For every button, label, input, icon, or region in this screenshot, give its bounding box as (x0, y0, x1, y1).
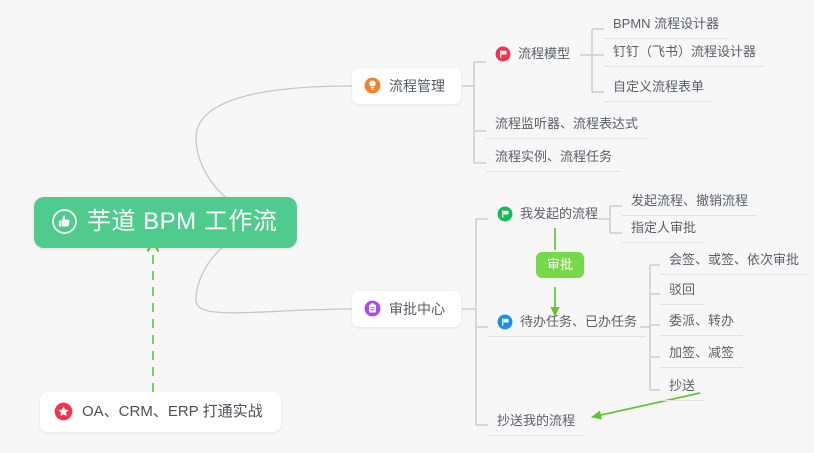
node-label-add-remove-signer: 加签、减签 (669, 345, 734, 361)
lightbulb-icon (364, 77, 381, 94)
node-label-my-initiated-process: 我发起的流程 (520, 206, 598, 222)
node-label-delegate-transfer: 委派、转办 (669, 313, 734, 329)
node-label-carbon-copy: 抄送 (669, 378, 695, 394)
flag-icon (497, 314, 513, 330)
node-label-process-listener-expression: 流程监听器、流程表达式 (495, 116, 638, 132)
node-cc-to-me-process[interactable]: 抄送我的流程 (488, 409, 584, 436)
node-label-custom-process-form: 自定义流程表单 (613, 79, 704, 95)
node-custom-process-form[interactable]: 自定义流程表单 (604, 75, 713, 102)
star-icon (54, 402, 73, 421)
node-countersign-orsign-sequential[interactable]: 会签、或签、依次审批 (660, 248, 808, 275)
bottom-card-label: OA、CRM、ERP 打通实战 (82, 404, 263, 419)
node-process-listener-expression[interactable]: 流程监听器、流程表达式 (486, 112, 647, 139)
node-delegate-transfer[interactable]: 委派、转办 (660, 309, 743, 336)
node-label-reject: 驳回 (669, 282, 695, 298)
flag-icon (497, 206, 513, 222)
node-assignee-approval[interactable]: 指定人审批 (622, 216, 705, 243)
flag-icon (495, 46, 511, 62)
mindmap-canvas: 芋道 BPM 工作流 流程管理 流程模型 BPMN 流程设计器 钉钉（飞书 (0, 0, 814, 453)
thumbs-up-icon (52, 209, 77, 234)
branch-node-approval-center[interactable]: 审批中心 (352, 291, 461, 327)
node-label-dingtalk-feishu-designer: 钉钉（飞书）流程设计器 (613, 44, 756, 60)
node-label-countersign-orsign-sequential: 会签、或签、依次审批 (669, 252, 799, 268)
root-label: 芋道 BPM 工作流 (87, 210, 277, 234)
branch-label-approval-center: 审批中心 (389, 302, 445, 316)
node-dingtalk-feishu-designer[interactable]: 钉钉（飞书）流程设计器 (604, 40, 765, 67)
clipboard-icon (364, 300, 381, 317)
node-label-process-model: 流程模型 (518, 46, 570, 62)
node-todo-done-tasks[interactable]: 待办任务、已办任务 (488, 310, 646, 337)
node-label-process-instance-task: 流程实例、流程任务 (495, 149, 612, 165)
node-label-assignee-approval: 指定人审批 (631, 220, 696, 236)
branch-label-process-management: 流程管理 (389, 79, 445, 93)
node-start-cancel-process[interactable]: 发起流程、撤销流程 (622, 189, 757, 216)
node-process-model[interactable]: 流程模型 (486, 42, 579, 68)
node-my-initiated-process[interactable]: 我发起的流程 (488, 202, 607, 228)
node-label-bpmn-designer: BPMN 流程设计器 (613, 16, 719, 32)
node-reject[interactable]: 驳回 (660, 278, 704, 305)
node-carbon-copy[interactable]: 抄送 (660, 374, 704, 401)
node-label-start-cancel-process: 发起流程、撤销流程 (631, 193, 748, 209)
node-process-instance-task[interactable]: 流程实例、流程任务 (486, 145, 621, 172)
node-bpmn-designer[interactable]: BPMN 流程设计器 (604, 12, 728, 39)
bottom-card-oa-crm-erp[interactable]: OA、CRM、ERP 打通实战 (40, 392, 281, 432)
node-add-remove-signer[interactable]: 加签、减签 (660, 341, 743, 368)
node-label-todo-done-tasks: 待办任务、已办任务 (520, 314, 637, 330)
node-label-cc-to-me-process: 抄送我的流程 (497, 413, 575, 429)
branch-node-process-management[interactable]: 流程管理 (352, 68, 461, 104)
root-node[interactable]: 芋道 BPM 工作流 (34, 197, 297, 248)
tag-approval[interactable]: 审批 (536, 252, 584, 278)
tag-label-approval: 审批 (547, 258, 573, 271)
